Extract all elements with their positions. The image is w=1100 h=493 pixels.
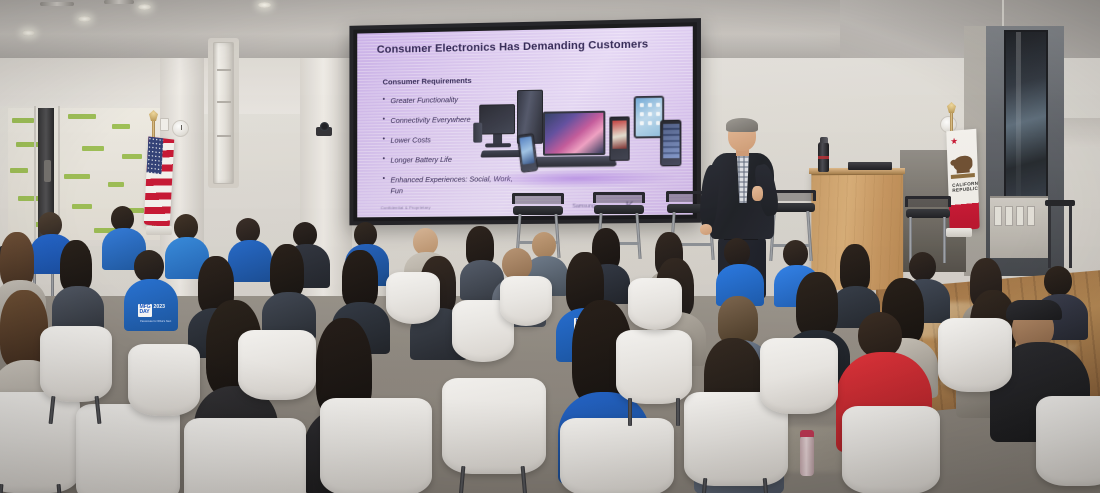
california-flag: CALIFORNIA REPUBLIC [946, 129, 979, 232]
chair[interactable] [628, 278, 682, 330]
door-handle-icon[interactable] [44, 160, 51, 182]
wall-clock-icon [172, 120, 189, 137]
presenter-hand-gesture [752, 186, 763, 201]
slide-footer-note: Confidential & Proprietary [381, 205, 431, 210]
laptop-icon [543, 111, 605, 156]
wall-speaker-icon [213, 42, 234, 184]
chair[interactable] [40, 326, 112, 402]
chair[interactable] [500, 276, 552, 326]
background-counter [990, 196, 1048, 258]
slide-title: Consumer Electronics Has Demanding Custo… [377, 38, 649, 55]
chair[interactable] [760, 338, 838, 414]
thermostat-icon[interactable] [160, 118, 169, 131]
chair[interactable] [184, 418, 306, 493]
downlight-icon [258, 2, 271, 8]
us-flag [144, 136, 174, 227]
california-flag-text: CALIFORNIA REPUBLIC [952, 181, 976, 193]
ceiling-slot [104, 0, 134, 4]
ptz-camera-icon [316, 122, 332, 136]
baseball-cap-icon [1006, 300, 1062, 320]
chair[interactable] [76, 404, 180, 493]
flag-base [146, 226, 172, 235]
chair[interactable] [442, 378, 546, 474]
chair[interactable] [1036, 396, 1100, 486]
barstool [905, 196, 951, 256]
chair[interactable] [938, 318, 1012, 392]
water-bottle [800, 436, 814, 476]
glass-partition [1004, 30, 1048, 220]
photo-scene: Consumer Electronics Has Demanding Custo… [0, 0, 1100, 493]
downlight-icon [78, 16, 91, 22]
chair[interactable] [128, 344, 200, 416]
chair[interactable] [616, 330, 692, 404]
slide-canvas: Consumer Electronics Has Demanding Custo… [357, 26, 693, 217]
chair[interactable] [320, 398, 432, 493]
monitor-icon [479, 104, 515, 134]
slide-section-heading: Consumer Requirements [383, 76, 472, 87]
accent-wall-alcove [8, 108, 160, 240]
slide-brand-caption: Samsung [572, 203, 595, 209]
podium-laptop [848, 162, 892, 170]
air-vent-icon [1062, 118, 1100, 148]
device-collage [473, 83, 684, 194]
chair[interactable] [386, 272, 440, 324]
downlight-icon [138, 4, 151, 10]
chair[interactable] [238, 330, 316, 400]
chair[interactable] [560, 418, 674, 493]
ceiling-slot [40, 2, 74, 6]
bottle-cap [820, 137, 828, 143]
chair[interactable] [842, 406, 940, 493]
background-stool [1045, 200, 1075, 268]
chair[interactable] [0, 392, 80, 493]
bottle-cap [800, 430, 814, 437]
pc-speaker-icon [473, 123, 482, 143]
downlight-icon [22, 30, 35, 36]
mfg-day-logo: MFGDAY 2023 [138, 304, 165, 317]
mfg-day-tagline: Passionate for What's Next [140, 320, 171, 323]
